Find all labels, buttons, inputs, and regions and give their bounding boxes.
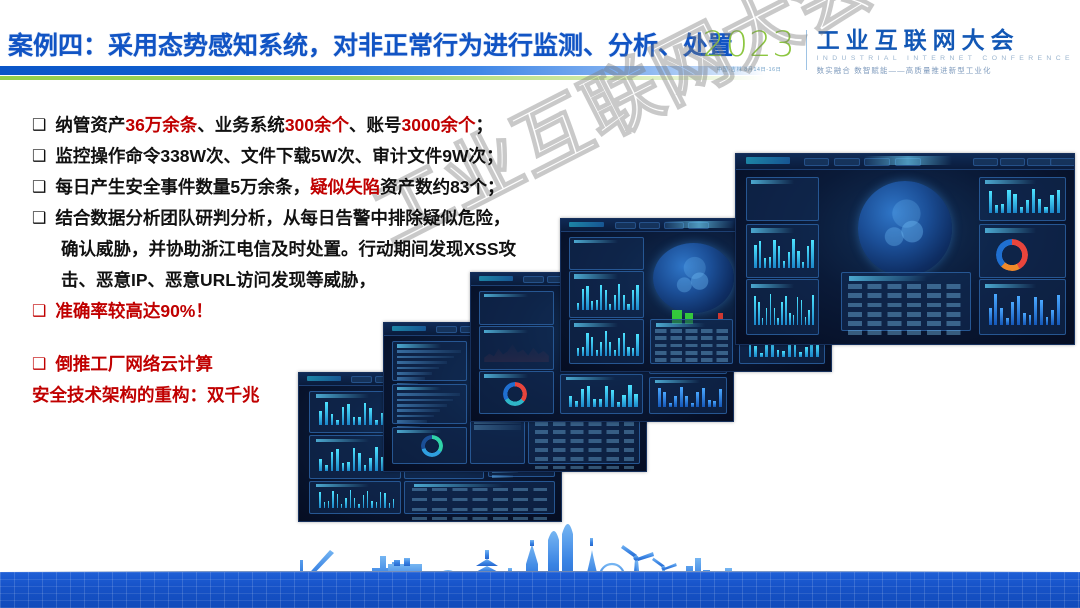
dashboard-nav-tab[interactable]	[973, 158, 999, 166]
table-row	[848, 303, 964, 308]
panel-header	[751, 284, 794, 289]
table-row	[535, 430, 634, 434]
table-row	[535, 448, 634, 452]
panel-header	[985, 284, 1036, 289]
panel-header	[397, 430, 441, 433]
rank-row	[397, 415, 434, 417]
table-row	[848, 284, 964, 289]
table-row	[848, 330, 964, 335]
event-table	[848, 284, 964, 326]
panel-ip-summary	[746, 177, 819, 221]
bullet-item-3: ❑每日产生安全事件数量5万余条，疑似失陷资产数约83个；	[32, 172, 672, 203]
data-table	[412, 488, 546, 511]
donut-chart	[421, 435, 443, 457]
rank-row	[397, 420, 427, 422]
panel-trend-left	[746, 224, 819, 277]
table-row	[535, 466, 634, 470]
closing-line-2: 安全技术架构的重构：双千兆	[32, 380, 672, 411]
bullet-text: 纳管资产36万余条、业务系统300余个、账号3000余个；	[55, 110, 493, 141]
dashboard-nav-tab[interactable]	[834, 158, 860, 166]
bullet-spacer	[32, 327, 672, 349]
bullet-continuation-2: 击、恶意IP、恶意URL访问发现等威胁，	[32, 265, 672, 296]
bullet-marker: ❑	[32, 203, 46, 234]
panel-header	[985, 228, 1036, 233]
panel-header	[414, 484, 504, 487]
panel-header	[985, 180, 1036, 184]
dashboard-nav-tab[interactable]	[804, 158, 830, 166]
panel-alerts-left	[746, 279, 819, 334]
bullet-marker: ❑	[32, 141, 46, 172]
bullet-text: 每日产生安全事件数量5万余条，疑似失陷资产数约83个；	[55, 172, 504, 203]
dashboard-screenshot-5[interactable]	[735, 153, 1075, 345]
panel-risk-donut	[979, 224, 1066, 277]
rank-row	[492, 475, 513, 478]
bar-chart	[989, 294, 1060, 325]
bullet-marker: ❑	[32, 110, 46, 141]
panel-header	[849, 276, 926, 281]
table-row	[848, 293, 964, 298]
dashboard-topbar	[736, 154, 1074, 170]
bullet-item-4: ❑结合数据分析团队研判分析，从每日告警中排除疑似危险，	[32, 203, 672, 234]
bar-chart	[319, 490, 394, 508]
globe-visualization	[858, 181, 953, 276]
table-row	[848, 312, 964, 317]
bullet-item-2: ❑监控操作命令338W次、文件下载5W次、审计文件9W次；	[32, 141, 672, 172]
bullet-marker: ❑	[32, 296, 46, 327]
data-table	[535, 422, 634, 460]
bullet-list: ❑纳管资产36万余条、业务系统300余个、账号3000余个；❑监控操作命令338…	[32, 110, 672, 411]
dashboard-nav-tab[interactable]	[1027, 158, 1053, 166]
dashboard-logo	[746, 157, 790, 164]
slide-footer	[0, 520, 1080, 608]
panel-header	[751, 180, 794, 184]
bullet-text: 准确率较高达90%！	[55, 296, 213, 327]
table-row	[412, 498, 546, 501]
bullet-text: 倒推工厂网络云计算	[55, 349, 213, 380]
dashboard-title	[664, 221, 734, 228]
bullet-marker: ❑	[32, 349, 46, 380]
bullet-text: 监控操作命令338W次、文件下载5W次、审计文件9W次；	[55, 141, 503, 172]
panel-header	[316, 484, 369, 487]
panel-header	[751, 228, 794, 233]
list-row	[474, 425, 521, 430]
panel-event-table	[841, 272, 971, 331]
dashboard-title	[864, 156, 952, 165]
bar-chart	[989, 189, 1060, 213]
panel-bars-c	[309, 481, 400, 514]
panel-table-a	[404, 481, 555, 514]
panel-scatter-donut	[392, 427, 467, 465]
bullet-item-accuracy: ❑ 准确率较高达90%！	[32, 296, 672, 327]
panel-traffic-bars	[979, 279, 1066, 334]
table-row	[535, 422, 634, 426]
closing-text: 安全技术架构的重构：双千兆	[32, 380, 260, 411]
bar-chart	[754, 294, 814, 325]
donut-chart	[996, 239, 1028, 271]
bar-chart	[754, 239, 814, 269]
bullet-marker: ❑	[32, 172, 46, 203]
ground-grid	[0, 572, 1080, 608]
dashboard-nav-tab[interactable]	[1050, 158, 1075, 166]
dashboard-nav-tab[interactable]	[1000, 158, 1026, 166]
table-row	[412, 508, 546, 511]
bullet-item-closing: ❑ 倒推工厂网络云计算	[32, 349, 672, 380]
table-row	[848, 321, 964, 326]
bullet-text: 结合数据分析团队研判分析，从每日告警中排除疑似危险，	[55, 203, 510, 234]
dashboard-canvas	[736, 154, 1074, 344]
panel-asset-bars	[979, 177, 1066, 221]
panel-header	[316, 439, 369, 443]
table-row	[535, 457, 634, 461]
slide-root: 案例四：采用态势感知系统，对非正常行为进行监测、分析、处置 2023 中国·吉林…	[0, 0, 1080, 608]
table-row	[412, 488, 546, 491]
table-row	[535, 439, 634, 443]
bullet-item-1: ❑纳管资产36万余条、业务系统300余个、账号3000余个；	[32, 110, 672, 141]
bullet-continuation-1: 确认威胁，并协助浙江电信及时处置。行动期间发现XSS攻	[32, 234, 672, 265]
